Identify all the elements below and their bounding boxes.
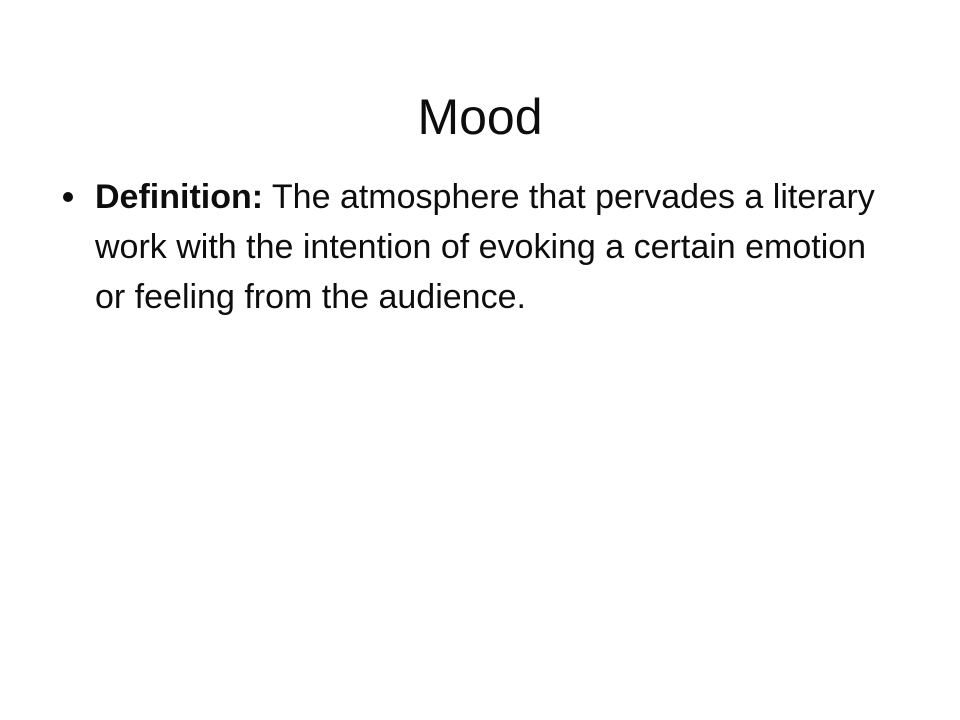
- bullet-dot-icon: [63, 172, 83, 222]
- list-item: Definition: The atmosphere that pervades…: [56, 172, 904, 322]
- bullet-text: Definition: The atmosphere that pervades…: [95, 178, 875, 316]
- bullet-lead-label: Definition:: [95, 178, 263, 216]
- page-title: Mood: [0, 90, 960, 145]
- slide-body: Definition: The atmosphere that pervades…: [56, 172, 904, 322]
- slide-canvas: Mood Definition: The atmosphere that per…: [0, 0, 960, 720]
